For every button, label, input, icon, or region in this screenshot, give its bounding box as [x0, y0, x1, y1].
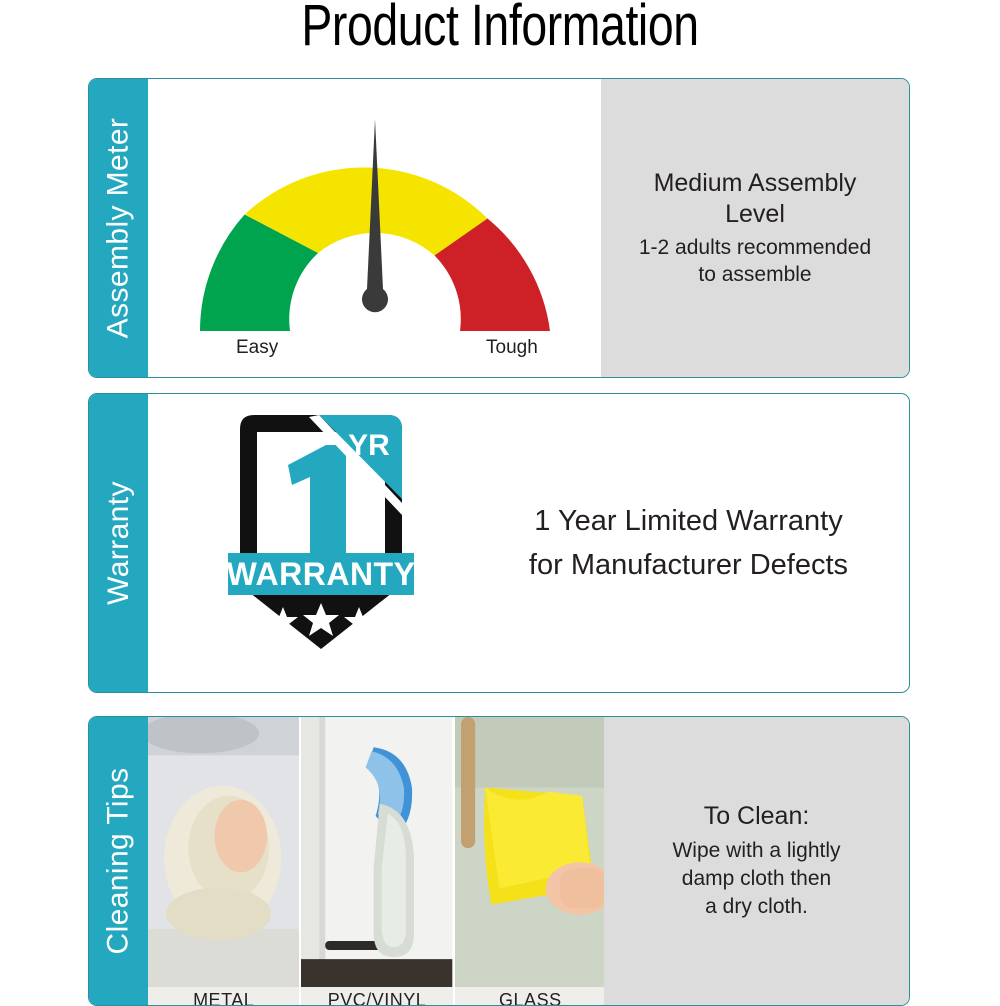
cleaning-caption-pvc: PVC/VINYL	[301, 987, 452, 1005]
page-title: Product Information	[100, 0, 900, 58]
pvc-photo-art	[301, 717, 452, 1005]
cleaning-photo-strip: METAL PVC/VINYL	[148, 717, 606, 1005]
metal-photo-art	[148, 717, 299, 1005]
cleaning-photo-glass: GLASS	[455, 717, 606, 1005]
tab-assembly-meter: Assembly Meter	[89, 79, 148, 377]
warranty-text-block: 1 Year Limited Warranty for Manufacturer…	[478, 394, 899, 692]
badge-banner-text: WARRANTY	[227, 556, 416, 592]
badge-unit-text: YR	[348, 429, 390, 462]
panel-assembly-meter: Assembly Meter Easy Tough Medium Assembl…	[88, 78, 910, 378]
cleaning-info-pane: To Clean: Wipe with a lightly damp cloth…	[604, 717, 909, 1005]
gauge-label-tough: Tough	[486, 337, 538, 359]
warranty-badge-area: YR WARRANTY	[148, 394, 488, 692]
cleaning-photo-metal: METAL	[148, 717, 301, 1005]
panel-cleaning-tips: Cleaning Tips METAL	[88, 716, 910, 1006]
tab-warranty: Warranty	[89, 394, 148, 692]
cleaning-line-2: damp cloth then	[682, 865, 831, 893]
assembly-gauge-chart	[170, 101, 580, 351]
tab-cleaning-tips: Cleaning Tips	[89, 717, 148, 1005]
warranty-body: YR WARRANTY 1 Year Limited Warranty for …	[148, 394, 909, 692]
cleaning-line-3: a dry cloth.	[705, 893, 808, 921]
assembly-sub-line-1: 1-2 adults recommended	[633, 234, 877, 261]
glass-photo-art	[455, 717, 606, 1005]
tab-assembly-meter-label: Assembly Meter	[104, 118, 134, 339]
tab-cleaning-tips-label: Cleaning Tips	[104, 768, 134, 955]
cleaning-body: METAL PVC/VINYL	[148, 717, 909, 1005]
assembly-gauge-area: Easy Tough	[148, 79, 603, 377]
cleaning-photo-pvc: PVC/VINYL	[301, 717, 454, 1005]
gauge-label-easy: Easy	[236, 337, 278, 359]
cleaning-caption-glass: GLASS	[455, 987, 606, 1005]
panel-warranty: Warranty YR WARRANTY	[88, 393, 910, 693]
warranty-text-line-1: 1 Year Limited Warranty	[534, 499, 842, 543]
warranty-badge-icon: YR WARRANTY	[226, 407, 416, 657]
assembly-sub-line-2: to assemble	[692, 261, 817, 288]
tab-warranty-label: Warranty	[104, 481, 134, 605]
assembly-body: Easy Tough Medium Assembly Level 1-2 adu…	[148, 79, 909, 377]
assembly-heading-line-2: Level	[711, 199, 799, 230]
cleaning-line-1: Wipe with a lightly	[672, 837, 840, 865]
cleaning-heading: To Clean:	[704, 801, 810, 832]
warranty-text-line-2: for Manufacturer Defects	[529, 543, 848, 587]
cleaning-caption-metal: METAL	[148, 987, 299, 1005]
assembly-info-pane: Medium Assembly Level 1-2 adults recomme…	[601, 79, 909, 377]
assembly-heading-line-1: Medium Assembly	[640, 168, 871, 199]
